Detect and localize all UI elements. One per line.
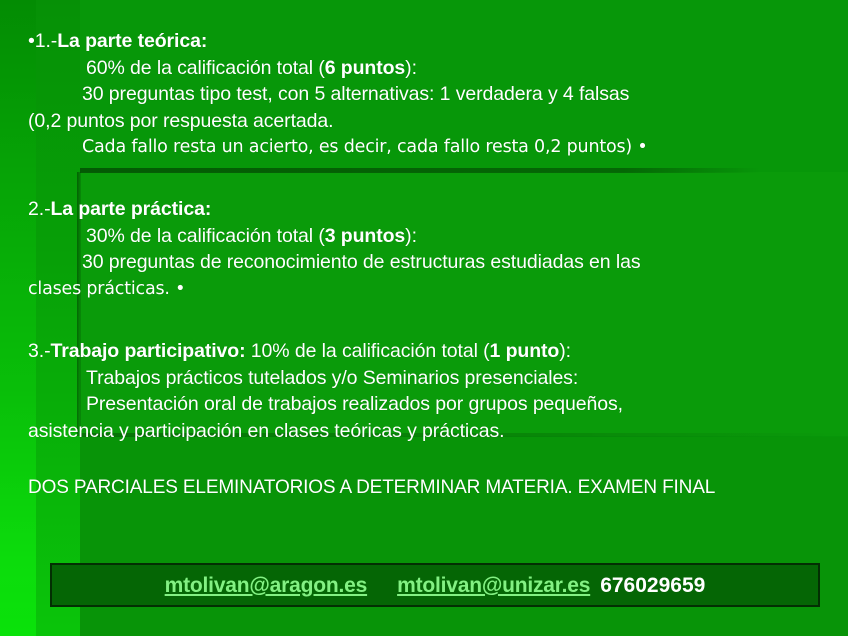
practica-heading-line: 2.-La parte práctica: bbox=[28, 196, 828, 223]
teorica-line2-c: ): bbox=[405, 57, 417, 79]
participativo-heading-line: 3.-Trabajo participativo: 10% de la cali… bbox=[28, 338, 828, 365]
teorica-number: 1.- bbox=[35, 30, 57, 52]
section-parte-teorica: •1.-La parte teórica: 60% de la califica… bbox=[28, 28, 828, 161]
participativo-line3-text: Presentación oral de trabajos realizados… bbox=[86, 393, 623, 415]
practica-line-3: 30 preguntas de reconocimiento de estruc… bbox=[28, 249, 828, 276]
teorica-line-3: 30 preguntas tipo test, con 5 alternativ… bbox=[28, 81, 828, 108]
practica-line2-points: 3 puntos bbox=[325, 225, 405, 247]
practica-line2-c: ): bbox=[405, 225, 417, 247]
practica-line2-a: 30% de la calificación total ( bbox=[86, 225, 325, 247]
practica-title: La parte práctica: bbox=[50, 198, 211, 220]
participativo-line-4: asistencia y participación en clases teó… bbox=[28, 418, 828, 445]
contact-info-bar: mtolivan@aragon.es mtolivan@unizar.es 67… bbox=[50, 563, 820, 607]
teorica-line3-text: 30 preguntas tipo test, con 5 alternativ… bbox=[82, 83, 629, 105]
participativo-line-3: Presentación oral de trabajos realizados… bbox=[28, 391, 828, 418]
section-examen-final: DOS PARCIALES ELEMINATORIOS A DETERMINAR… bbox=[28, 475, 828, 502]
slide-canvas: •1.-La parte teórica: 60% de la califica… bbox=[0, 0, 848, 636]
practica-line-2: 30% de la calificación total (3 puntos): bbox=[28, 223, 828, 250]
participativo-line1-d: ): bbox=[559, 340, 571, 362]
participativo-title: Trabajo participativo: bbox=[50, 340, 245, 362]
teorica-bullet: • bbox=[28, 30, 35, 52]
teorica-line-5: Cada fallo resta un acierto, es decir, c… bbox=[28, 134, 828, 161]
teorica-line4-text: (0,2 puntos por respuesta acertada. bbox=[28, 110, 333, 132]
section-trabajo-participativo: 3.-Trabajo participativo: 10% de la cali… bbox=[28, 338, 828, 444]
teorica-line2-points: 6 puntos bbox=[325, 57, 405, 79]
email-link-aragon[interactable]: mtolivan@aragon.es bbox=[165, 574, 367, 598]
practica-line3-text: 30 preguntas de reconocimiento de estruc… bbox=[82, 251, 640, 273]
teorica-line2-a: 60% de la calificación total ( bbox=[86, 57, 325, 79]
practica-line-4: clases prácticas. • bbox=[28, 276, 828, 303]
practica-line4-text: clases prácticas. • bbox=[28, 279, 185, 299]
teorica-line-2: 60% de la calificación total (6 puntos): bbox=[28, 55, 828, 82]
contact-inner: mtolivan@aragon.es mtolivan@unizar.es 67… bbox=[165, 574, 706, 598]
practica-number: 2.- bbox=[28, 198, 50, 220]
email-link-unizar[interactable]: mtolivan@unizar.es bbox=[397, 574, 590, 598]
teorica-line-4: (0,2 puntos por respuesta acertada. bbox=[28, 108, 828, 135]
participativo-line1-points: 1 punto bbox=[490, 340, 560, 362]
section-parte-practica: 2.-La parte práctica: 30% de la califica… bbox=[28, 196, 828, 302]
teorica-heading-line: •1.-La parte teórica: bbox=[28, 28, 828, 55]
participativo-line4-text: asistencia y participación en clases teó… bbox=[28, 420, 505, 442]
participativo-number: 3.- bbox=[28, 340, 50, 362]
examen-final-line: DOS PARCIALES ELEMINATORIOS A DETERMINAR… bbox=[28, 475, 828, 502]
teorica-line5-text: Cada fallo resta un acierto, es decir, c… bbox=[82, 137, 648, 157]
participativo-line1-b: 10% de la calificación total ( bbox=[245, 340, 489, 362]
slide-content: •1.-La parte teórica: 60% de la califica… bbox=[0, 0, 848, 636]
teorica-title: La parte teórica: bbox=[57, 30, 207, 52]
participativo-line2-text: Trabajos prácticos tutelados y/o Seminar… bbox=[86, 367, 578, 389]
participativo-line-2: Trabajos prácticos tutelados y/o Seminar… bbox=[28, 365, 828, 392]
phone-number: 676029659 bbox=[590, 574, 705, 598]
